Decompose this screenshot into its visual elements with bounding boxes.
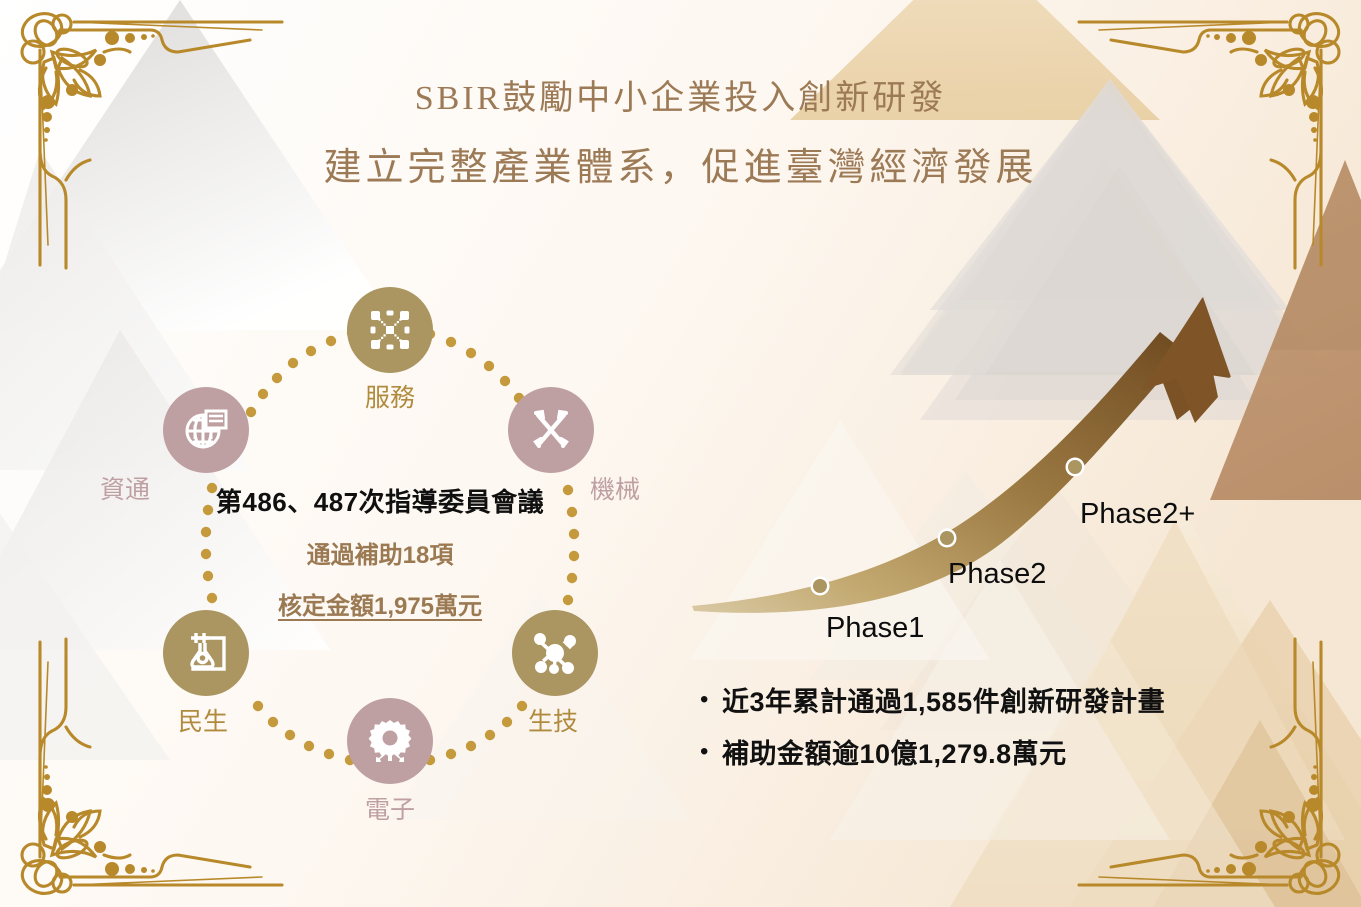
growth-phase-chart: Phase1 Phase2 Phase2+	[690, 280, 1290, 680]
approved-amount: 核定金額1,975萬元	[150, 586, 610, 621]
center-summary-text: 第486、487次指導委員會議 通過補助18項 核定金額1,975萬元	[150, 482, 610, 621]
molecule-icon	[531, 629, 579, 677]
node-label-livelihood: 民生	[178, 702, 228, 738]
node-label-electronics: 電子	[348, 790, 432, 826]
node-electronics[interactable]	[347, 698, 433, 784]
slide-canvas: SBIR鼓勵中小企業投入創新研發 建立完整產業體系，促進臺灣經濟發展	[0, 0, 1361, 907]
globe-document-icon	[182, 406, 230, 454]
phase-label-1: Phase1	[826, 612, 924, 645]
statistics-bullet-list: • 近3年累計通過1,585件創新研發計畫 • 補助金額逾10億1,279.8萬…	[700, 686, 1320, 791]
phase-label-2: Phase2	[948, 558, 1046, 591]
title-line-2: 建立完整產業體系，促進臺灣經濟發展	[0, 145, 1361, 193]
node-livelihood[interactable]	[163, 610, 249, 696]
growth-arrow-svg	[690, 280, 1290, 680]
phase-label-3: Phase2+	[1080, 498, 1195, 531]
bullet-text-2: 補助金額逾10億1,279.8萬元	[722, 738, 1067, 770]
node-label-biotech: 生技	[528, 702, 578, 738]
title-block: SBIR鼓勵中小企業投入創新研發 建立完整產業體系，促進臺灣經濟發展	[0, 78, 1361, 192]
node-service[interactable]	[347, 287, 433, 373]
meeting-title: 第486、487次指導委員會議	[150, 482, 610, 519]
approved-count: 通過補助18項	[150, 535, 610, 570]
bullet-marker-icon: •	[700, 686, 722, 715]
flask-box-icon	[182, 629, 230, 677]
title-line-1: SBIR鼓勵中小企業投入創新研發	[0, 78, 1361, 121]
list-item: • 近3年累計通過1,585件創新研發計畫	[700, 686, 1320, 718]
node-label-service: 服務	[348, 378, 432, 414]
node-machinery[interactable]	[508, 387, 594, 473]
bullet-marker-icon: •	[700, 738, 722, 767]
node-label-infocomm: 資通	[100, 470, 150, 506]
bullet-text-1: 近3年累計通過1,585件創新研發計畫	[722, 686, 1165, 718]
tools-cross-icon	[527, 406, 575, 454]
network-nodes-icon	[366, 306, 414, 354]
list-item: • 補助金額逾10億1,279.8萬元	[700, 738, 1320, 770]
node-biotech[interactable]	[512, 610, 598, 696]
node-infocomm[interactable]	[163, 387, 249, 473]
gear-rosette-icon	[366, 717, 414, 765]
